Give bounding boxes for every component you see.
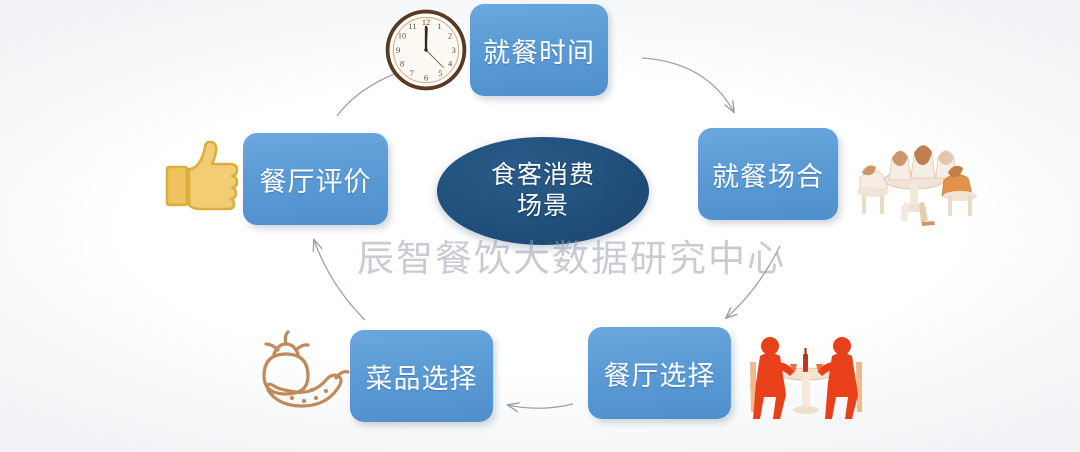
hub-line-2: 场景 xyxy=(517,191,569,222)
arrow-occasion-to-restaurant xyxy=(726,246,780,318)
node-dish-choice-label: 菜品选择 xyxy=(366,357,478,396)
arrow-dish-to-review xyxy=(314,240,365,320)
node-restaurant-review-label: 餐厅评价 xyxy=(260,160,372,199)
node-dining-time-label: 就餐时间 xyxy=(483,31,595,70)
svg-text:4: 4 xyxy=(448,58,453,68)
svg-text:12: 12 xyxy=(422,17,431,27)
arrow-restaurant-to-dish xyxy=(508,404,573,408)
node-dining-occasion-label: 就餐场合 xyxy=(712,155,824,194)
node-restaurant-choice[interactable]: 餐厅选择 xyxy=(588,327,731,419)
svg-text:3: 3 xyxy=(452,45,456,55)
diagram-canvas: 1212 345 678 91011 xyxy=(0,0,1080,452)
svg-text:11: 11 xyxy=(408,21,416,31)
svg-text:5: 5 xyxy=(438,68,442,78)
svg-text:9: 9 xyxy=(396,45,400,55)
vegetables-icon xyxy=(252,328,360,422)
node-dining-time[interactable]: 就餐时间 xyxy=(470,4,608,96)
svg-text:1: 1 xyxy=(437,21,441,31)
couple-dining-icon xyxy=(742,322,870,422)
node-dish-choice[interactable]: 菜品选择 xyxy=(350,330,493,422)
women-dining-table-icon xyxy=(848,118,980,230)
svg-text:10: 10 xyxy=(398,30,407,40)
svg-text:7: 7 xyxy=(409,68,414,78)
node-restaurant-choice-label: 餐厅选择 xyxy=(604,354,716,393)
node-dining-occasion[interactable]: 就餐场合 xyxy=(698,128,838,220)
svg-text:2: 2 xyxy=(448,30,452,40)
hub-line-1: 食客消费 xyxy=(491,160,595,191)
node-restaurant-review[interactable]: 餐厅评价 xyxy=(243,133,388,225)
svg-text:6: 6 xyxy=(424,73,429,83)
arrow-time-to-occasion xyxy=(642,58,734,112)
clock-icon: 1212 345 678 91011 xyxy=(378,2,474,98)
thumbs-up-icon xyxy=(161,133,249,221)
hub-center: 食客消费 场景 xyxy=(437,137,649,245)
svg-text:8: 8 xyxy=(400,58,404,68)
